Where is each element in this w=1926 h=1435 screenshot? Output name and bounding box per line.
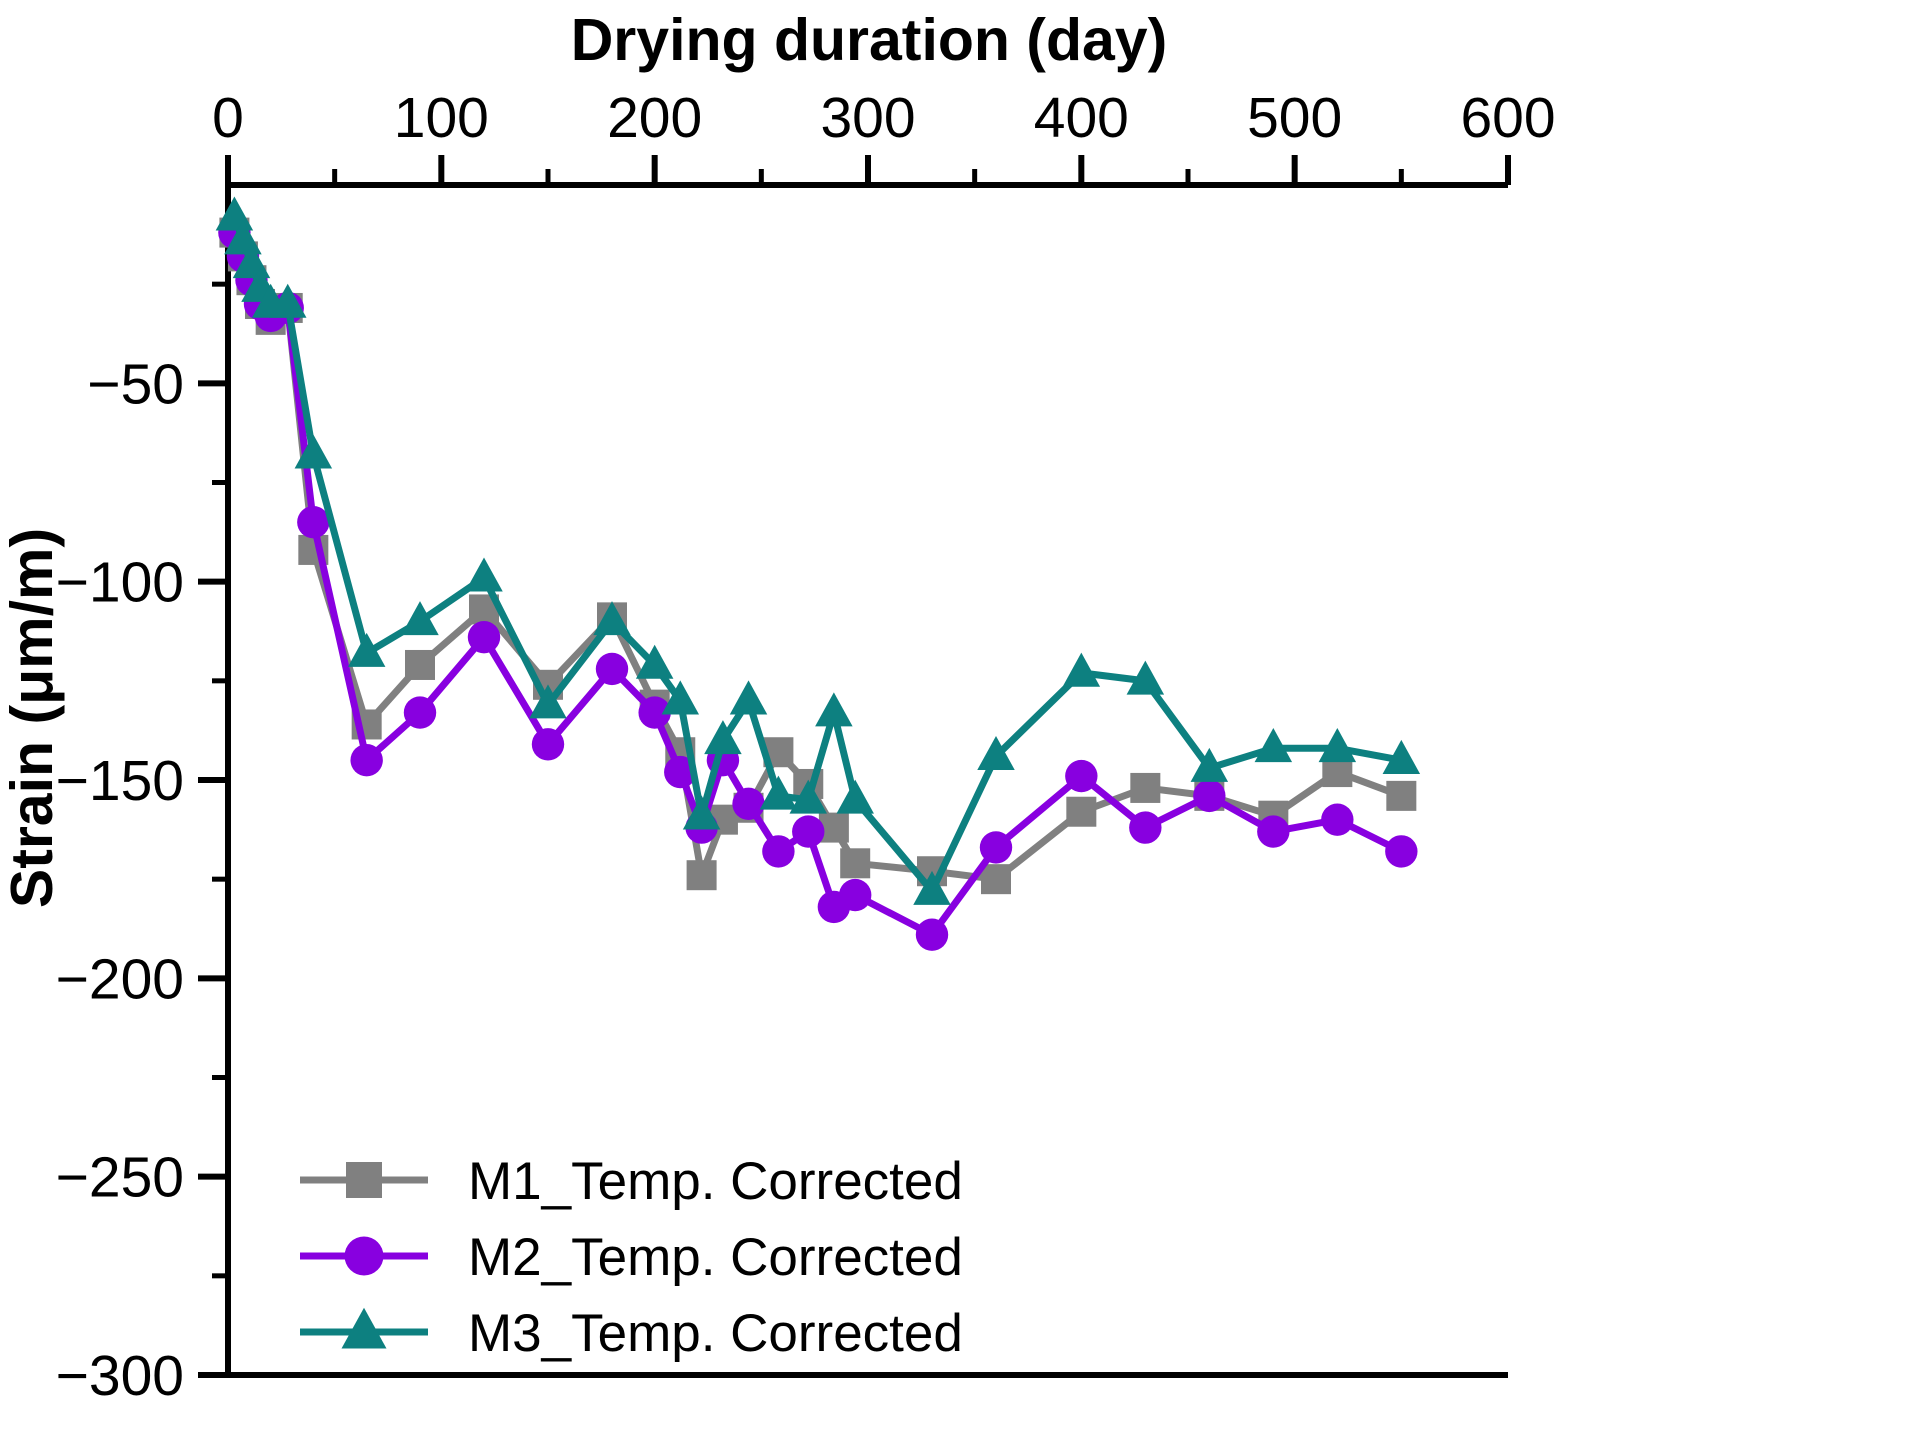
data-marker-square — [1066, 797, 1096, 827]
data-marker-square — [981, 864, 1011, 894]
y-tick-label: −250 — [56, 1146, 184, 1210]
x-tick-label: 200 — [607, 86, 702, 150]
data-marker-circle — [404, 696, 436, 728]
x-tick-label: 400 — [1034, 86, 1129, 150]
chart-figure: Drying duration (day) Strain (μm/m) 0100… — [0, 0, 1926, 1435]
x-tick-label: 500 — [1247, 86, 1342, 150]
y-tick-label: −300 — [56, 1344, 184, 1408]
data-marker-circle — [1065, 760, 1097, 792]
data-marker-square — [1130, 773, 1160, 803]
data-marker-square — [840, 848, 870, 878]
data-marker-circle — [1257, 815, 1289, 847]
y-tick-label: −200 — [56, 947, 184, 1011]
strain-vs-drying-duration-chart: Drying duration (day) Strain (μm/m) 0100… — [0, 0, 1926, 1435]
data-marker-circle — [468, 621, 500, 653]
data-marker-square — [687, 860, 717, 890]
legend-item-label: M1_Temp. Corrected — [468, 1152, 963, 1211]
y-tick-label: −100 — [56, 551, 184, 615]
y-tick-label: −150 — [56, 749, 184, 813]
data-marker-circle — [345, 1237, 384, 1276]
data-marker-square — [405, 650, 435, 680]
data-marker-square — [346, 1162, 382, 1198]
data-marker-circle — [350, 744, 382, 776]
x-tick-label: 600 — [1460, 86, 1555, 150]
data-marker-circle — [1321, 803, 1353, 835]
data-marker-circle — [1385, 835, 1417, 867]
data-marker-circle — [792, 815, 824, 847]
x-tick-label: 100 — [394, 86, 489, 150]
x-tick-label: 300 — [820, 86, 915, 150]
legend-item-label: M2_Temp. Corrected — [468, 1228, 963, 1287]
chart-background — [0, 0, 1926, 1435]
data-marker-circle — [532, 728, 564, 760]
data-marker-circle — [297, 506, 329, 538]
legend-item-label: M3_Temp. Corrected — [468, 1304, 963, 1363]
data-marker-circle — [1193, 780, 1225, 812]
data-marker-square — [1386, 781, 1416, 811]
data-marker-circle — [1129, 811, 1161, 843]
x-axis-title: Drying duration (day) — [571, 7, 1168, 73]
data-marker-circle — [916, 919, 948, 951]
data-marker-circle — [839, 879, 871, 911]
data-marker-circle — [762, 835, 794, 867]
x-tick-label: 0 — [212, 86, 244, 150]
y-tick-label: −50 — [87, 352, 184, 416]
data-marker-circle — [980, 831, 1012, 863]
data-marker-circle — [732, 788, 764, 820]
data-marker-circle — [596, 653, 628, 685]
